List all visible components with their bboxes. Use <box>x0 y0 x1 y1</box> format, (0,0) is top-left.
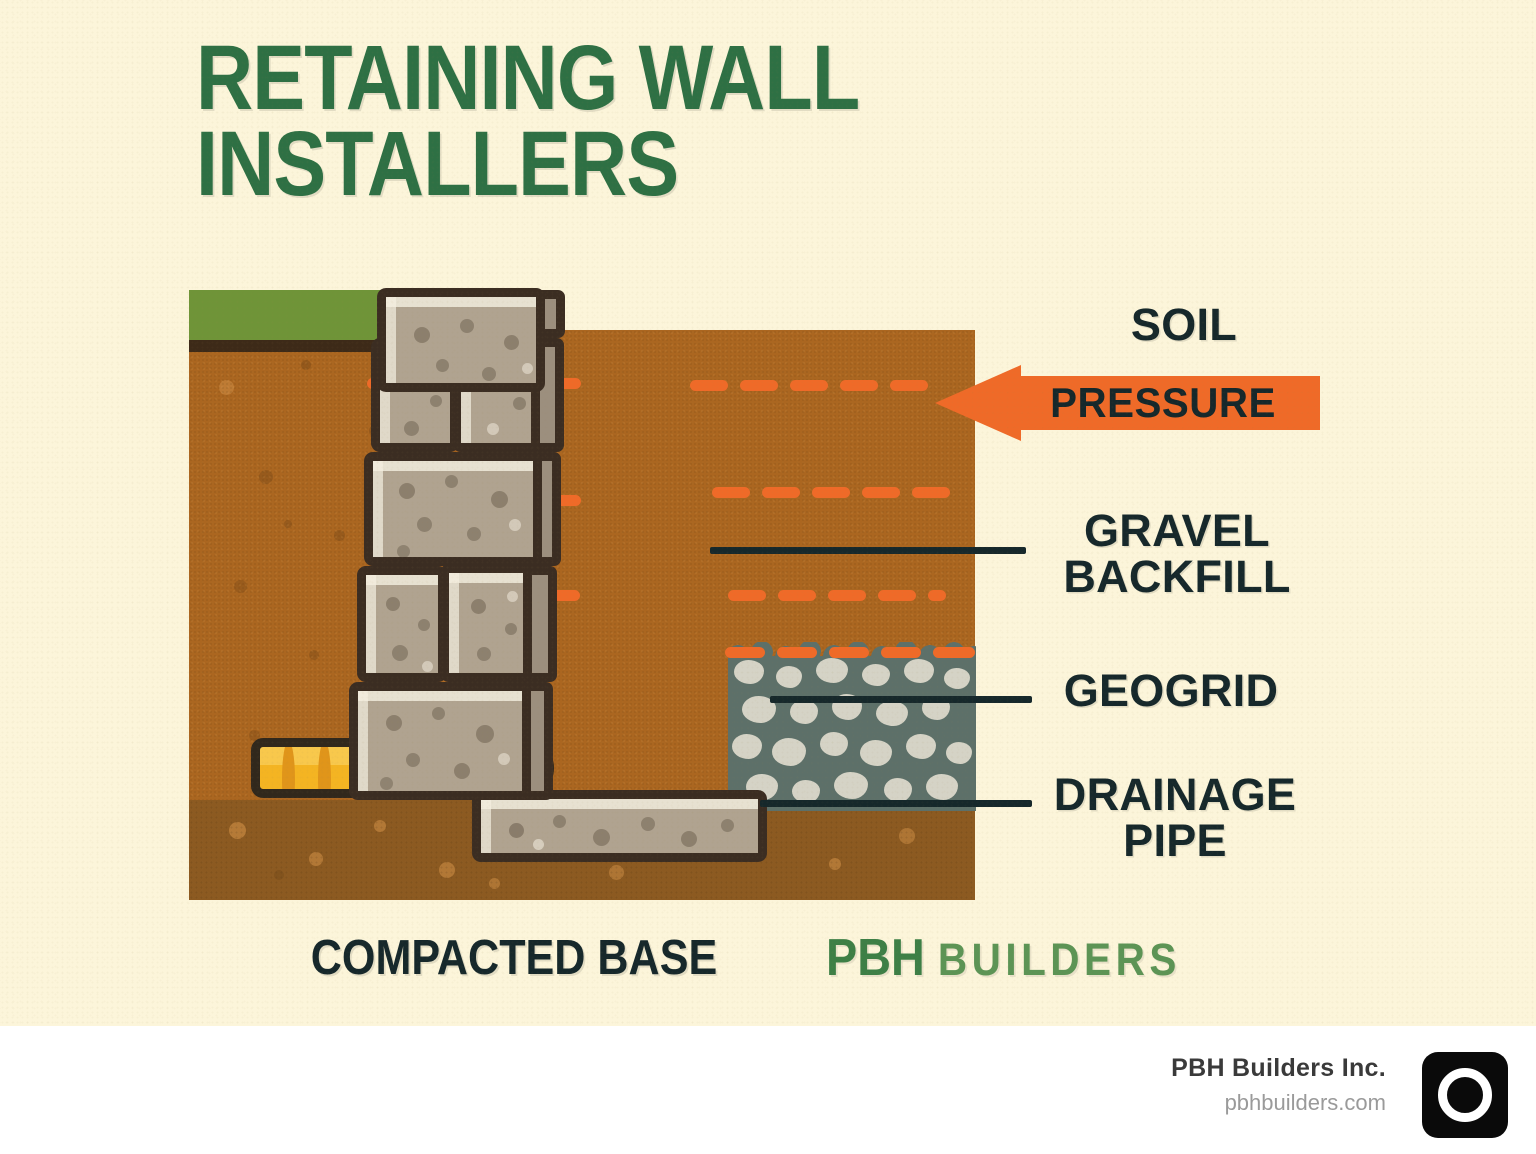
soil-label-text: SOIL <box>1131 299 1237 350</box>
gravel-backfill-line-2: BACKFILL <box>1022 554 1332 600</box>
footer-bar: PBH Builders Inc. pbhbuilders.com <box>0 1026 1536 1154</box>
company-logo-icon <box>1422 1052 1508 1138</box>
logo-ring-icon <box>1438 1068 1492 1122</box>
wall-footing-block <box>472 790 767 862</box>
geogrid-row-gravel <box>725 647 975 658</box>
footer-company-name: PBH Builders Inc. <box>1171 1054 1386 1083</box>
geogrid-label-text: GEOGRID <box>1064 665 1279 716</box>
leader-line-gravel-backfill <box>710 547 1026 554</box>
pressure-label-text: PRESSURE <box>1019 376 1307 430</box>
geogrid-row-right-3 <box>728 590 946 601</box>
geogrid-row-right-2 <box>712 487 952 498</box>
title-line-2: INSTALLERS <box>196 122 1056 208</box>
wall-block-course-3 <box>364 452 542 566</box>
compacted-base-label: COMPACTED BASE <box>294 930 734 986</box>
wall-block-course-5-top <box>377 288 545 392</box>
title-line-1: RETAINING WALL <box>196 36 1056 122</box>
gravel-backfill-label: GRAVEL BACKFILL <box>1022 508 1332 600</box>
drainage-line-2: PIPE <box>1020 818 1330 864</box>
wall-block-course-2-left <box>357 566 447 682</box>
brand-mark-bold: PBH <box>826 929 925 987</box>
footer-website-url[interactable]: pbhbuilders.com <box>1171 1090 1386 1116</box>
brand-mark-light: BUILDERS <box>938 934 1181 985</box>
soil-label: SOIL <box>1036 302 1332 348</box>
footer-text-group: PBH Builders Inc. pbhbuilders.com <box>1171 1054 1386 1116</box>
wall-block-course-1 <box>349 682 531 800</box>
page-title: RETAINING WALL INSTALLERS <box>196 36 1056 207</box>
drainage-line-1: DRAINAGE <box>1020 772 1330 818</box>
gravel-backfill-line-1: GRAVEL <box>1022 508 1332 554</box>
drainage-pipe-label: DRAINAGE PIPE <box>1020 772 1330 864</box>
geogrid-label: GEOGRID <box>1026 668 1316 714</box>
leader-line-geogrid <box>770 696 1032 703</box>
gravel-backfill <box>728 656 976 811</box>
wall-block-course-2-right <box>440 564 532 682</box>
infographic-poster: RETAINING WALL INSTALLERS <box>0 0 1536 1026</box>
brand-wordmark: PBH BUILDERS <box>826 928 1222 988</box>
leader-line-drainage-pipe <box>760 800 1032 807</box>
geogrid-row-right-1 <box>690 380 952 391</box>
soil-pressure-arrow: PRESSURE <box>935 365 1320 441</box>
